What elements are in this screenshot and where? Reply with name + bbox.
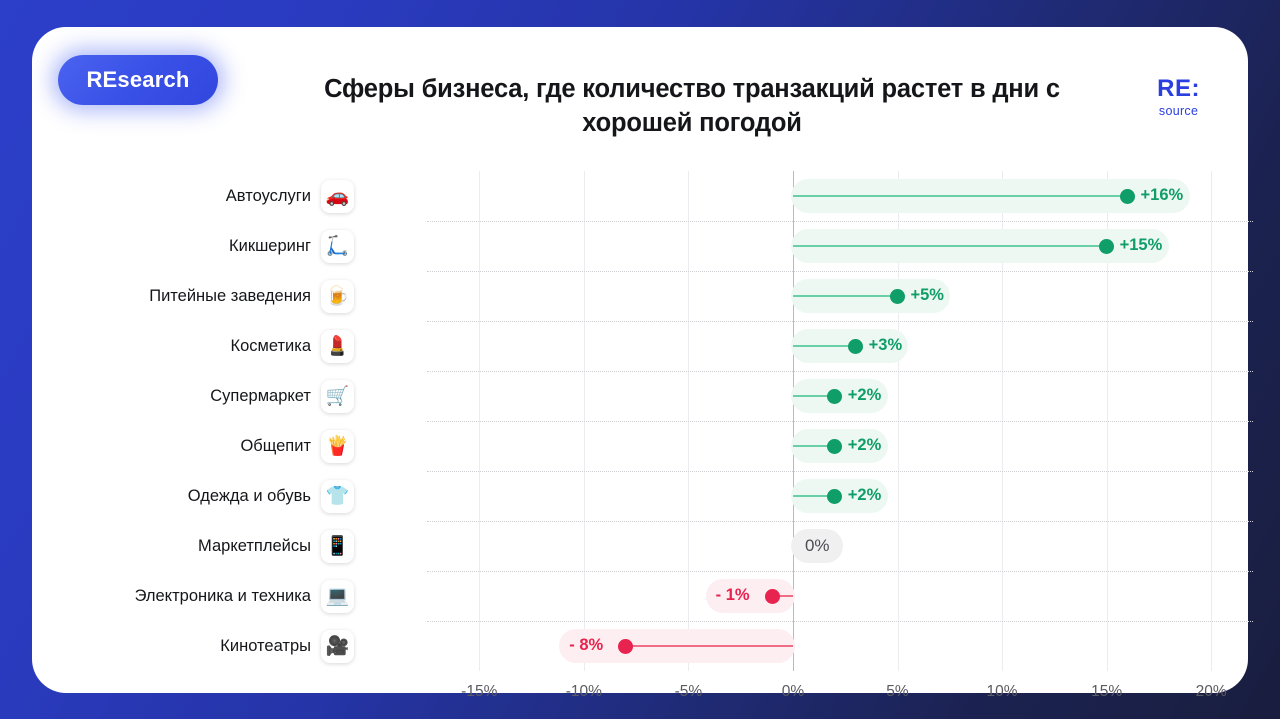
value-label: +2% [848, 486, 881, 505]
tshirt-icon: 👕 [321, 480, 354, 513]
chart-row: Электроника и техника💻- 1% [64, 571, 1280, 621]
value-marker [765, 589, 780, 604]
chart-row: Маркетплейсы📱0% [64, 521, 1280, 571]
value-label: +16% [1141, 186, 1184, 205]
chart-row: Одежда и обувь👕+2% [64, 471, 1280, 521]
laptop-icon: 💻 [321, 580, 354, 613]
resource-logo: RE: source [1157, 77, 1200, 118]
category-label-group: Кинотеатры🎥 [64, 630, 364, 663]
category-label: Супермаркет [210, 387, 311, 406]
row-plot: +2% [427, 371, 1253, 421]
value-label: +2% [848, 436, 881, 455]
x-tick-label: 5% [886, 683, 908, 701]
category-label-group: Общепит🍟 [64, 430, 364, 463]
chart-row: Кинотеатры🎥- 8% [64, 621, 1280, 671]
category-label: Маркетплейсы [198, 537, 311, 556]
category-label-group: Одежда и обувь👕 [64, 480, 364, 513]
movie-camera-icon: 🎥 [321, 630, 354, 663]
fries-icon: 🍟 [321, 430, 354, 463]
value-label: - 1% [716, 586, 750, 605]
value-stem [626, 645, 793, 647]
category-label-group: Питейные заведения🍺 [64, 280, 364, 313]
lollipop-chart: Автоуслуги🚗+16%Кикшеринг🛴+15%Питейные за… [64, 145, 1280, 719]
value-label: +2% [848, 386, 881, 405]
value-stem [793, 195, 1128, 197]
category-label: Кинотеатры [220, 637, 311, 656]
x-tick-label: 20% [1196, 683, 1227, 701]
x-tick-label: 10% [987, 683, 1018, 701]
x-tick-label: 15% [1091, 683, 1122, 701]
row-plot: +2% [427, 471, 1253, 521]
logo-source-text: source [1157, 105, 1200, 118]
value-label: +15% [1120, 236, 1163, 255]
chart-row: Общепит🍟+2% [64, 421, 1280, 471]
category-label: Электроника и техника [135, 587, 311, 606]
category-label-group: Супермаркет🛒 [64, 380, 364, 413]
x-tick-label: -10% [566, 683, 602, 701]
x-axis: -15%-10%-5%0%5%10%15%20% [427, 672, 1253, 712]
category-label: Общепит [240, 437, 311, 456]
x-tick-label: 0% [782, 683, 804, 701]
shopping-cart-icon: 🛒 [321, 380, 354, 413]
value-label: +5% [911, 286, 944, 305]
category-label: Одежда и обувь [188, 487, 311, 506]
category-label: Кикшеринг [229, 237, 311, 256]
row-plot: +2% [427, 421, 1253, 471]
category-label-group: Автоуслуги🚗 [64, 180, 364, 213]
row-plot: +3% [427, 321, 1253, 371]
row-plot: +16% [427, 171, 1253, 221]
chart-row: Косметика💄+3% [64, 321, 1280, 371]
row-plot: +5% [427, 271, 1253, 321]
chart-row: Питейные заведения🍺+5% [64, 271, 1280, 321]
value-label: - 8% [569, 636, 603, 655]
category-label-group: Электроника и техника💻 [64, 580, 364, 613]
value-label: +3% [869, 336, 902, 355]
x-tick-label: -5% [675, 683, 703, 701]
beer-mug-icon: 🍺 [321, 280, 354, 313]
category-label: Автоуслуги [226, 187, 311, 206]
category-label-group: Косметика💄 [64, 330, 364, 363]
row-plot: 0% [427, 521, 1253, 571]
value-label: 0% [805, 536, 830, 556]
chart-card: REsearch Сферы бизнеса, где количество т… [32, 27, 1248, 693]
kick-scooter-icon: 🛴 [321, 230, 354, 263]
category-label: Питейные заведения [149, 287, 311, 306]
logo-re-text: RE: [1157, 77, 1200, 101]
chart-rows: Автоуслуги🚗+16%Кикшеринг🛴+15%Питейные за… [64, 171, 1280, 671]
value-stem [793, 345, 856, 347]
row-plot: - 8% [427, 621, 1253, 671]
value-marker [890, 289, 905, 304]
chart-row: Кикшеринг🛴+15% [64, 221, 1280, 271]
page-title: Сферы бизнеса, где количество транзакций… [282, 73, 1102, 140]
lipstick-icon: 💄 [321, 330, 354, 363]
row-plot: +15% [427, 221, 1253, 271]
row-plot: - 1% [427, 571, 1253, 621]
value-stem [793, 295, 898, 297]
mobile-phone-icon: 📱 [321, 530, 354, 563]
chart-row: Автоуслуги🚗+16% [64, 171, 1280, 221]
category-label: Косметика [230, 337, 311, 356]
value-stem [793, 245, 1107, 247]
research-badge-label: REsearch [86, 67, 189, 93]
research-badge: REsearch [58, 55, 218, 105]
category-label-group: Кикшеринг🛴 [64, 230, 364, 263]
chart-row: Супермаркет🛒+2% [64, 371, 1280, 421]
category-label-group: Маркетплейсы📱 [64, 530, 364, 563]
car-icon: 🚗 [321, 180, 354, 213]
x-tick-label: -15% [461, 683, 497, 701]
value-marker [1120, 189, 1135, 204]
